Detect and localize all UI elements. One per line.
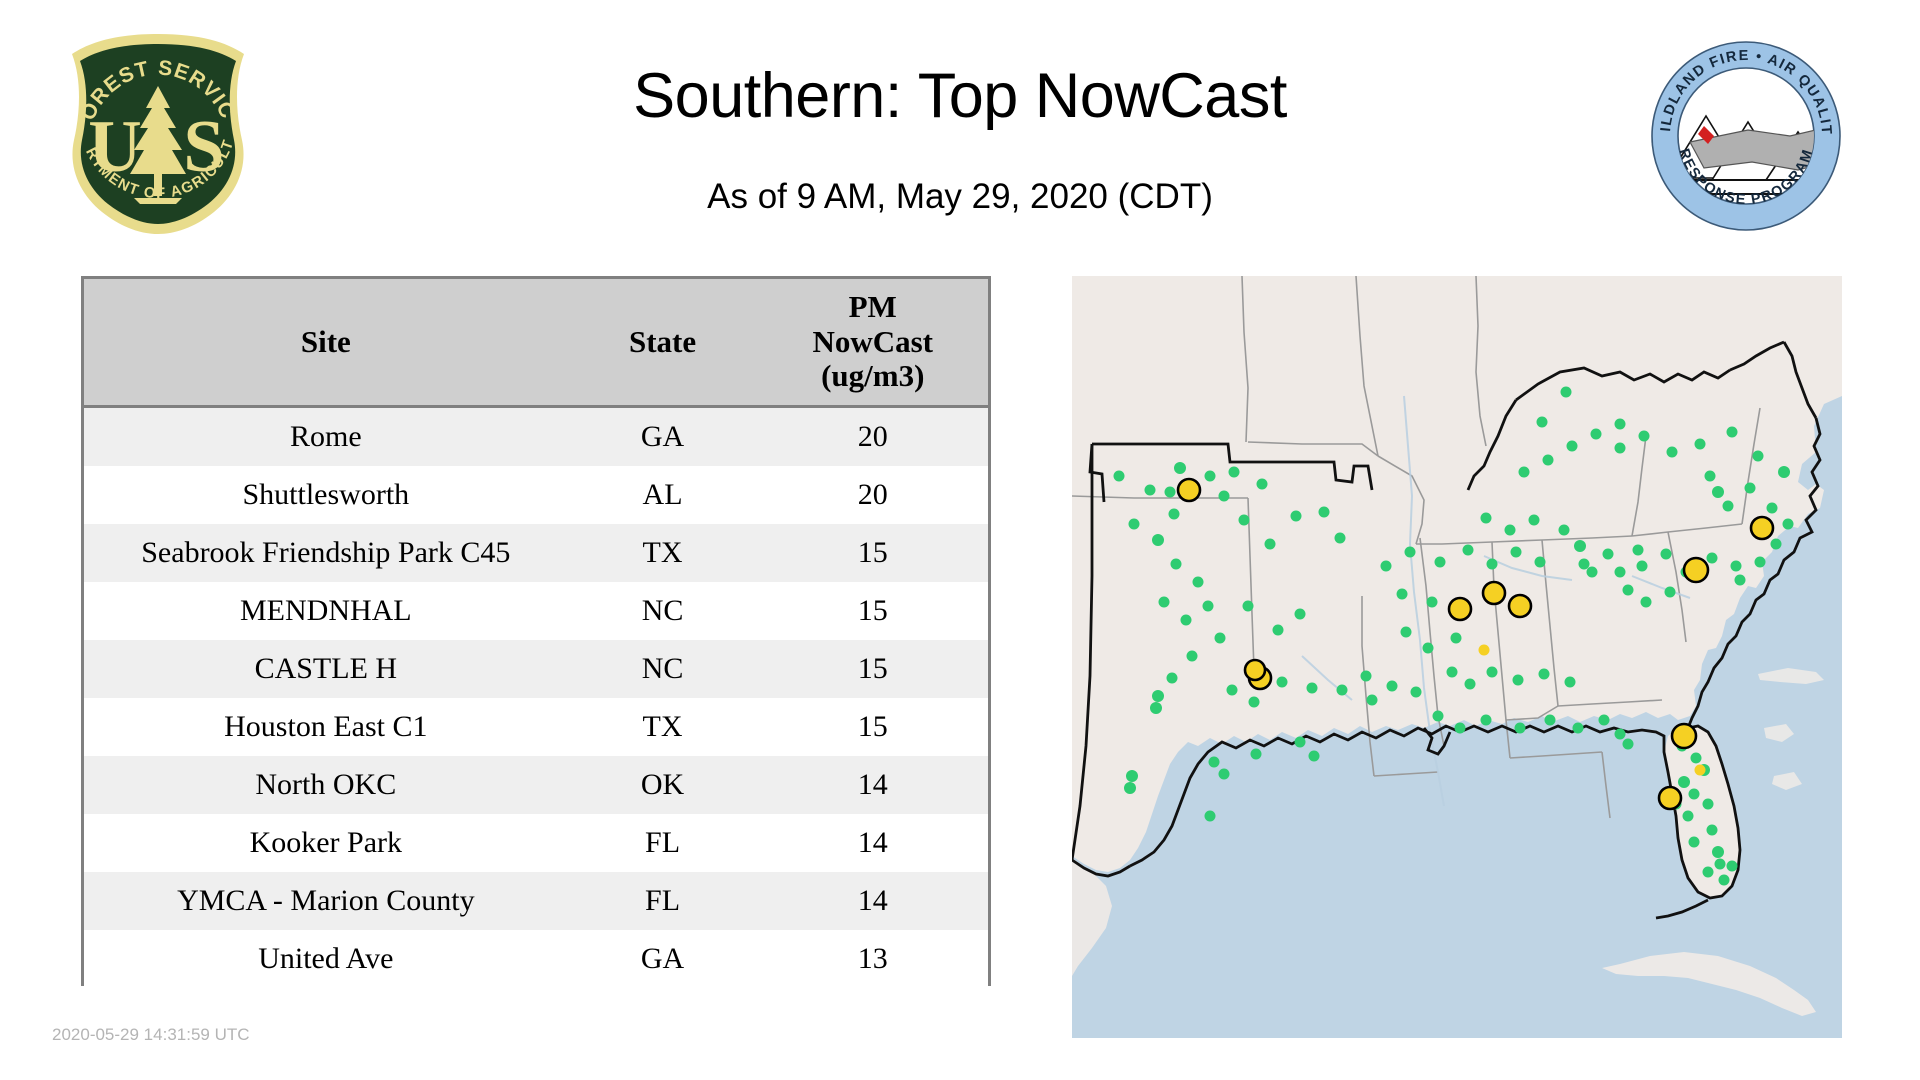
moderate-small-monitor-fl <box>1695 765 1706 776</box>
pm-nowcast-cell: 15 <box>757 698 988 756</box>
pm-nowcast-cell: 15 <box>757 640 988 698</box>
monitor-seabrook <box>1245 660 1265 680</box>
state-cell: FL <box>568 872 758 930</box>
table-row[interactable]: Houston East C1TX15 <box>84 698 988 756</box>
monitor-mendnhal <box>1684 558 1708 582</box>
site-cell: YMCA - Marion County <box>84 872 568 930</box>
table-row[interactable]: MENDNHALNC15 <box>84 582 988 640</box>
pm-nowcast-cell: 15 <box>757 582 988 640</box>
site-cell: Houston East C1 <box>84 698 568 756</box>
table-row[interactable]: RomeGA20 <box>84 407 988 467</box>
page-title: Southern: Top NowCast <box>0 60 1920 132</box>
monitor-united-ave <box>1509 595 1531 617</box>
table-header: Site State PM NowCast (ug/m3) <box>84 279 988 407</box>
page-subtitle: As of 9 AM, May 29, 2020 (CDT) <box>0 177 1920 217</box>
table-row[interactable]: YMCA - Marion CountyFL14 <box>84 872 988 930</box>
state-cell: NC <box>568 582 758 640</box>
nowcast-table-panel: Site State PM NowCast (ug/m3) RomeGA20Sh… <box>81 276 991 986</box>
table-body: RomeGA20ShuttlesworthAL20Seabrook Friend… <box>84 407 988 989</box>
table-row[interactable]: CASTLE HNC15 <box>84 640 988 698</box>
site-cell: Shuttlesworth <box>84 466 568 524</box>
column-header-pm-line1: PM <box>757 290 988 325</box>
state-cell: GA <box>568 407 758 467</box>
monitor-north-okc <box>1178 479 1200 501</box>
site-cell: MENDNHAL <box>84 582 568 640</box>
monitor-kooker-park <box>1659 787 1681 809</box>
pm-nowcast-cell: 13 <box>757 930 988 988</box>
air-quality-map[interactable]: Air Quality Index HazardousVery Unhealth… <box>1072 276 1842 1038</box>
monitor-ymca-marion <box>1672 724 1696 748</box>
table-row[interactable]: Seabrook Friendship Park C45TX15 <box>84 524 988 582</box>
column-header-pm-line3: (ug/m3) <box>757 359 988 394</box>
state-cell: FL <box>568 814 758 872</box>
table-header-row: Site State PM NowCast (ug/m3) <box>84 279 988 407</box>
generated-timestamp: 2020-05-29 14:31:59 UTC <box>52 1025 250 1045</box>
column-header-pm-line2: NowCast <box>757 325 988 360</box>
site-cell: United Ave <box>84 930 568 988</box>
state-cell: TX <box>568 524 758 582</box>
monitor-shuttlesworth <box>1449 598 1471 620</box>
pm-nowcast-cell: 14 <box>757 872 988 930</box>
map-svg <box>1072 276 1842 1038</box>
state-cell: TX <box>568 698 758 756</box>
pm-nowcast-cell: 14 <box>757 756 988 814</box>
site-cell: CASTLE H <box>84 640 568 698</box>
column-header-site[interactable]: Site <box>84 279 568 407</box>
table-row[interactable]: North OKCOK14 <box>84 756 988 814</box>
state-cell: OK <box>568 756 758 814</box>
site-cell: Seabrook Friendship Park C45 <box>84 524 568 582</box>
table-row[interactable]: United AveGA13 <box>84 930 988 988</box>
pm-nowcast-cell: 15 <box>757 524 988 582</box>
state-cell: AL <box>568 466 758 524</box>
state-cell: NC <box>568 640 758 698</box>
moderate-small-monitor <box>1479 645 1490 656</box>
site-cell: Kooker Park <box>84 814 568 872</box>
site-cell: North OKC <box>84 756 568 814</box>
state-cell: GA <box>568 930 758 988</box>
monitor-castle-h <box>1751 517 1773 539</box>
pm-nowcast-cell: 20 <box>757 466 988 524</box>
column-header-state[interactable]: State <box>568 279 758 407</box>
site-cell: Rome <box>84 407 568 467</box>
table-row[interactable]: ShuttlesworthAL20 <box>84 466 988 524</box>
pm-nowcast-cell: 14 <box>757 814 988 872</box>
pm-nowcast-cell: 20 <box>757 407 988 467</box>
column-header-pm-nowcast[interactable]: PM NowCast (ug/m3) <box>757 279 988 407</box>
table-row[interactable]: Kooker ParkFL14 <box>84 814 988 872</box>
monitor-rome <box>1483 582 1505 604</box>
nowcast-table: Site State PM NowCast (ug/m3) RomeGA20Sh… <box>84 279 988 988</box>
